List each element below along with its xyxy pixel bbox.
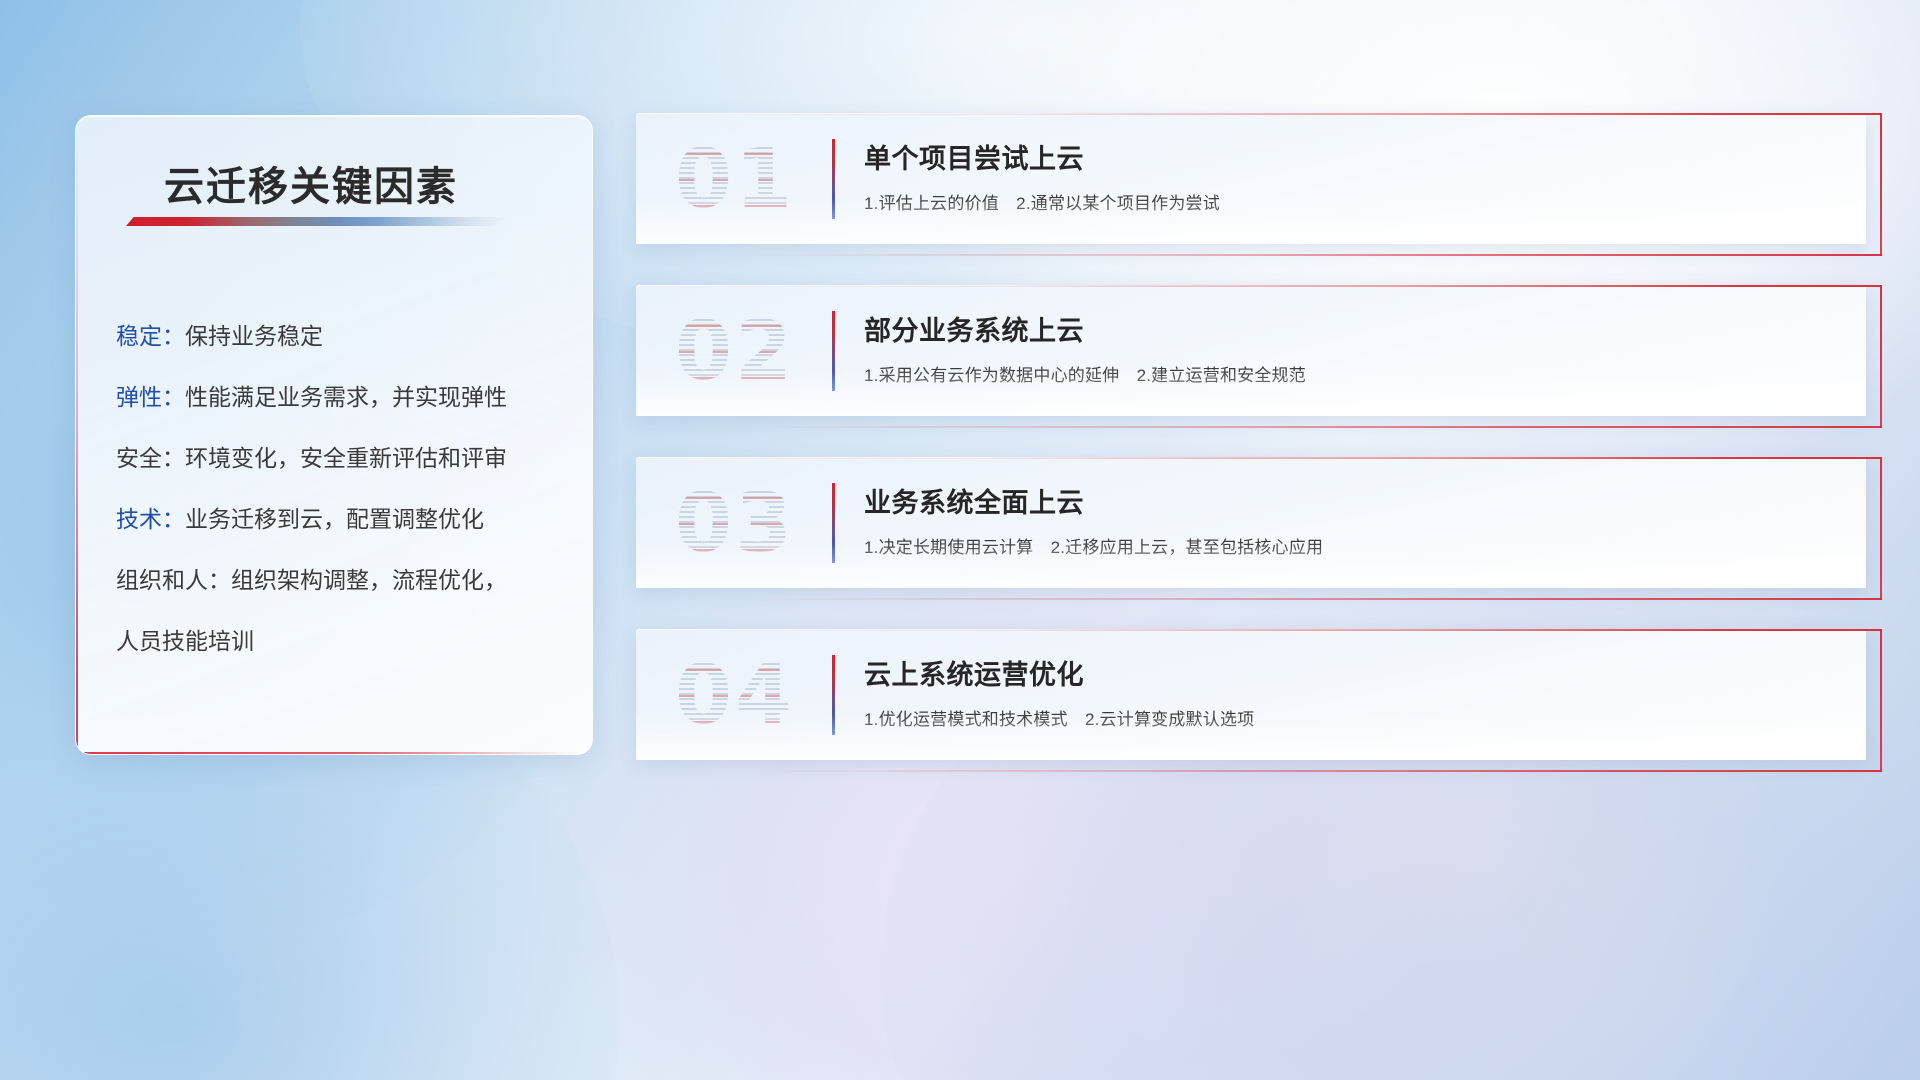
panel-bottom-accent: [76, 752, 578, 754]
card-right-accent: [1880, 285, 1882, 428]
title-underline: [126, 217, 506, 226]
card-right-accent: [1880, 629, 1882, 772]
card-divider: [832, 655, 835, 735]
factor-row: 技术：业务迁移到云，配置调整优化: [116, 489, 566, 550]
factor-text: 人员技能培训: [116, 628, 254, 654]
factor-text: 组织架构调整，流程优化，: [231, 567, 507, 593]
card-top-accent: [636, 285, 1882, 287]
card-number: 04: [660, 643, 810, 747]
factor-text: 业务迁移到云，配置调整优化: [185, 506, 484, 532]
card-description: 1.评估上云的价值 2.通常以某个项目作为尝试: [864, 189, 1220, 214]
card-top-accent: [636, 113, 1882, 115]
slide-stage: 云迁移关键因素 稳定：保持业务稳定 弹性：性能满足业务需求，并实现弹性 安全：环…: [0, 0, 1920, 1080]
factor-text: 性能满足业务需求，并实现弹性: [185, 384, 507, 410]
card-top-accent: [636, 457, 1882, 459]
card-title: 部分业务系统上云: [864, 309, 1084, 348]
card-divider: [832, 139, 835, 219]
factor-label: 安全：: [116, 445, 185, 471]
factor-row: 人员技能培训: [116, 611, 566, 672]
card-divider: [832, 483, 835, 563]
card-number: 02: [660, 299, 810, 403]
key-factors-panel: 云迁移关键因素 稳定：保持业务稳定 弹性：性能满足业务需求，并实现弹性 安全：环…: [75, 115, 593, 755]
card-number: 01: [660, 127, 810, 231]
card-right-accent: [1880, 113, 1882, 256]
card-bottom-accent: [756, 254, 1882, 256]
factor-label: 弹性：: [116, 384, 185, 410]
card-description: 1.优化运营模式和技术模式 2.云计算变成默认选项: [864, 705, 1254, 730]
stage-card-list: 01 单个项目尝试上云 1.评估上云的价值 2.通常以某个项目作为尝试 02 部…: [636, 113, 1866, 801]
factor-row: 安全：环境变化，安全重新评估和评审: [116, 428, 566, 489]
factor-list: 稳定：保持业务稳定 弹性：性能满足业务需求，并实现弹性 安全：环境变化，安全重新…: [116, 306, 566, 672]
card-description: 1.决定长期使用云计算 2.迁移应用上云，甚至包括核心应用: [864, 533, 1323, 558]
panel-left-accent: [76, 126, 78, 754]
factor-label: 技术：: [116, 506, 185, 532]
stage-card[interactable]: 04 云上系统运营优化 1.优化运营模式和技术模式 2.云计算变成默认选项: [636, 629, 1866, 760]
card-number: 03: [660, 471, 810, 575]
factor-text: 环境变化，安全重新评估和评审: [185, 445, 507, 471]
page-title: 云迁移关键因素: [164, 154, 458, 212]
card-bottom-accent: [756, 426, 1882, 428]
card-divider: [832, 311, 835, 391]
stage-card[interactable]: 01 单个项目尝试上云 1.评估上云的价值 2.通常以某个项目作为尝试: [636, 113, 1866, 244]
card-bottom-accent: [756, 770, 1882, 772]
card-sheen: [636, 198, 1866, 244]
card-right-accent: [1880, 457, 1882, 600]
factor-text: 保持业务稳定: [185, 323, 323, 349]
card-description: 1.采用公有云作为数据中心的延伸 2.建立运营和安全规范: [864, 361, 1306, 386]
factor-label: 稳定：: [116, 323, 185, 349]
factor-row: 组织和人：组织架构调整，流程优化，: [116, 550, 566, 611]
card-title: 业务系统全面上云: [864, 481, 1084, 520]
card-bottom-accent: [756, 598, 1882, 600]
stage-card[interactable]: 02 部分业务系统上云 1.采用公有云作为数据中心的延伸 2.建立运营和安全规范: [636, 285, 1866, 416]
card-title: 单个项目尝试上云: [864, 137, 1084, 176]
card-title: 云上系统运营优化: [864, 653, 1084, 692]
factor-row: 弹性：性能满足业务需求，并实现弹性: [116, 367, 566, 428]
factor-row: 稳定：保持业务稳定: [116, 306, 566, 367]
factor-label: 组织和人：: [116, 567, 231, 593]
card-top-accent: [636, 629, 1882, 631]
stage-card[interactable]: 03 业务系统全面上云 1.决定长期使用云计算 2.迁移应用上云，甚至包括核心应…: [636, 457, 1866, 588]
